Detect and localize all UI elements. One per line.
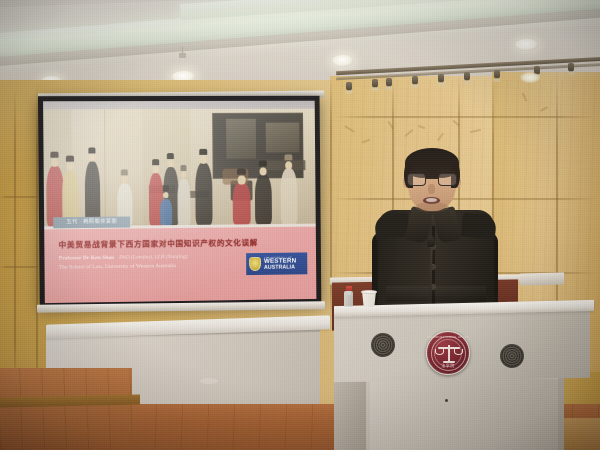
floor-left bbox=[0, 368, 132, 450]
screen-surface: 五代 · 韩熙载夜宴图 中美贸易战背景下西方国家对中国知识产权的文化误解 Pro… bbox=[43, 101, 316, 303]
track-spotlight-icon bbox=[568, 63, 574, 72]
slide-artwork-night-revels bbox=[43, 109, 316, 227]
glasses-bridge bbox=[426, 178, 438, 179]
scales-of-justice-icon bbox=[436, 343, 462, 363]
paper-cup-rim bbox=[361, 290, 377, 294]
slide-title: 中美贸易战背景下西方国家对中国知识产权的文化误解 bbox=[59, 237, 307, 251]
speaker-teeth bbox=[426, 198, 437, 202]
track-spotlight-icon bbox=[412, 76, 418, 85]
speaker-grille-icon bbox=[500, 344, 524, 368]
wall-seam-horizontal bbox=[0, 266, 40, 268]
painting-overlay bbox=[43, 109, 316, 227]
slide-artwork-caption: 五代 · 韩熙载夜宴图 bbox=[53, 216, 130, 228]
podium-base-fastener bbox=[445, 399, 448, 402]
scales-pan-left bbox=[435, 349, 444, 355]
glasses-lens-right bbox=[438, 173, 457, 186]
wall-seam bbox=[14, 86, 16, 386]
bottle-cap bbox=[346, 286, 352, 291]
track-spotlight-icon bbox=[372, 79, 378, 88]
podium-base-panel bbox=[370, 378, 558, 450]
presenter-name: Professor Dr Ken Shao bbox=[59, 255, 115, 262]
presentation-slide: 五代 · 韩熙载夜宴图 中美贸易战背景下西方国家对中国知识产权的文化误解 Pro… bbox=[43, 101, 316, 303]
speaker-right-shoulder bbox=[461, 212, 497, 239]
front-table-highlight bbox=[200, 378, 218, 384]
law-school-emblem: UNIVERSITY SCHOOL OF LAW 法学院 bbox=[426, 331, 470, 375]
track-light-glow bbox=[520, 72, 540, 83]
lecture-hall-photo: 五代 · 韩熙载夜宴图 中美贸易战背景下西方国家对中国知识产权的文化误解 Pro… bbox=[0, 0, 600, 450]
speaker-nose bbox=[428, 184, 435, 194]
microphone-icon bbox=[427, 236, 435, 247]
emblem-rim-text-bottom: 法学院 bbox=[427, 363, 469, 369]
track-spotlight-icon bbox=[464, 72, 470, 81]
wall-seam-horizontal bbox=[332, 116, 598, 118]
projection-screen: 五代 · 韩熙载夜宴图 中美贸易战背景下西方国家对中国知识产权的文化误解 Pro… bbox=[38, 96, 321, 308]
downlight-icon bbox=[332, 55, 354, 67]
scales-pan-right bbox=[454, 349, 463, 355]
track-spotlight-icon bbox=[386, 78, 392, 87]
glasses-lens-left bbox=[407, 173, 426, 186]
uwa-logo-line3: AUSTRALIA bbox=[264, 265, 296, 271]
track-spotlight-icon bbox=[494, 70, 500, 79]
presenter-degrees: PhD (London), LLB (Nanjing) bbox=[119, 254, 187, 261]
speaker-grille-icon bbox=[371, 333, 395, 357]
uwa-crest-icon bbox=[249, 257, 261, 271]
uwa-logo-line1: THE UNIVERSITY OF bbox=[264, 256, 296, 259]
speaker-jacket-hem bbox=[386, 286, 486, 302]
track-spotlight-icon bbox=[438, 74, 444, 83]
water-bottle bbox=[344, 286, 353, 307]
podium-side-panel bbox=[334, 376, 366, 450]
speaker-chin-shadow bbox=[415, 202, 449, 212]
bench-rail-right-cap bbox=[520, 272, 564, 285]
speaker-person bbox=[378, 148, 494, 324]
uwa-logo-text: THE UNIVERSITY OF WESTERN AUSTRALIA bbox=[264, 256, 297, 271]
slide-title-band: 中美贸易战背景下西方国家对中国知识产权的文化误解 Professor Dr Ke… bbox=[44, 227, 316, 304]
track-spotlight-icon bbox=[346, 82, 352, 91]
uwa-logo: THE UNIVERSITY OF WESTERN AUSTRALIA bbox=[246, 252, 307, 275]
emblem-rim-text-top: UNIVERSITY SCHOOL OF LAW bbox=[427, 336, 469, 339]
downlight-icon bbox=[515, 39, 539, 51]
wall-seam-horizontal bbox=[0, 196, 40, 198]
